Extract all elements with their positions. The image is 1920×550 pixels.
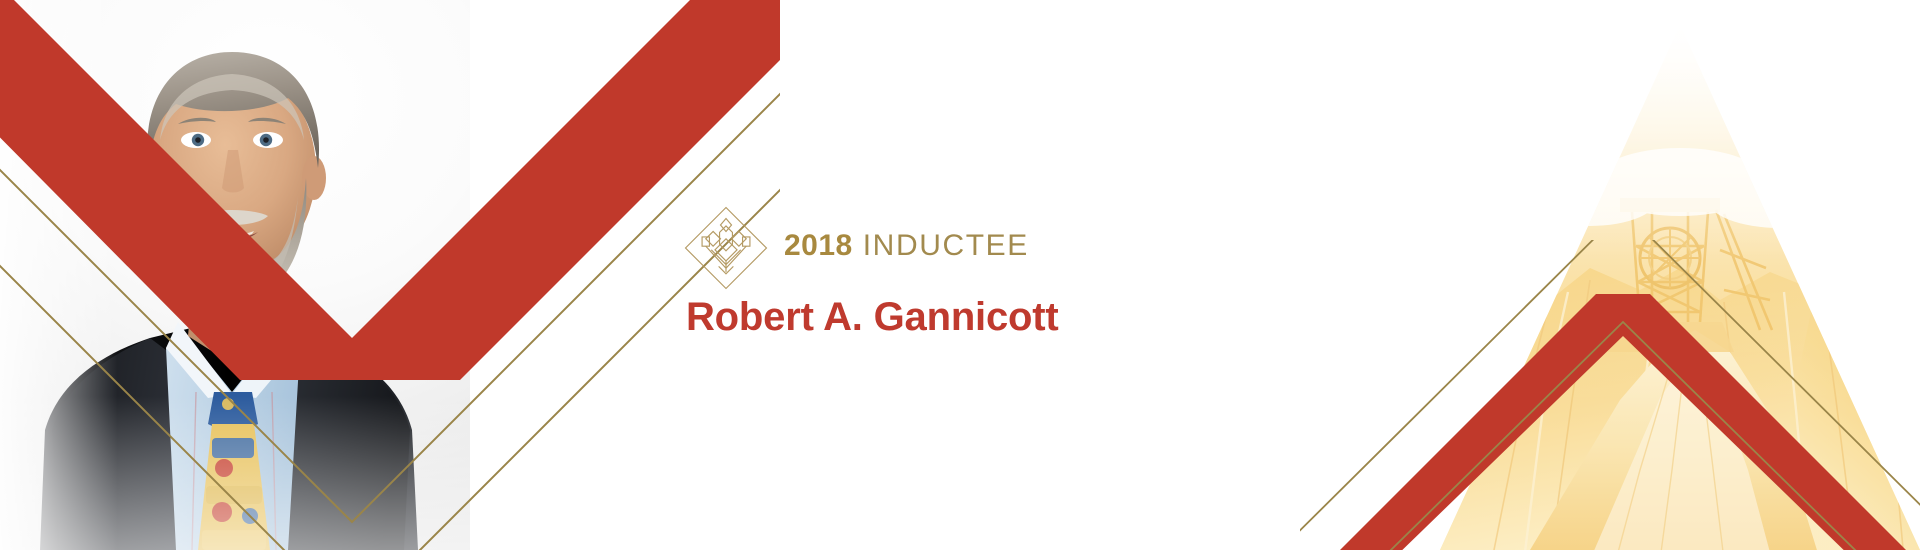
inductee-label: INDUCTEE — [863, 229, 1029, 262]
emblem-and-year-row: 2018INDUCTEE — [690, 196, 1330, 300]
portrait-container — [0, 0, 470, 550]
inductee-year-line: 2018INDUCTEE — [784, 231, 1029, 265]
diamond-maple-leaf-emblem — [680, 202, 772, 294]
inductee-year: 2018 — [784, 229, 853, 262]
inductee-name: Robert A. Gannicott — [686, 296, 1330, 338]
inductee-text-block: 2018INDUCTEE Robert A. Gannicott — [690, 196, 1330, 356]
inductee-portrait — [0, 0, 470, 550]
inductee-banner: 2018INDUCTEE Robert A. Gannicott — [0, 0, 1920, 550]
